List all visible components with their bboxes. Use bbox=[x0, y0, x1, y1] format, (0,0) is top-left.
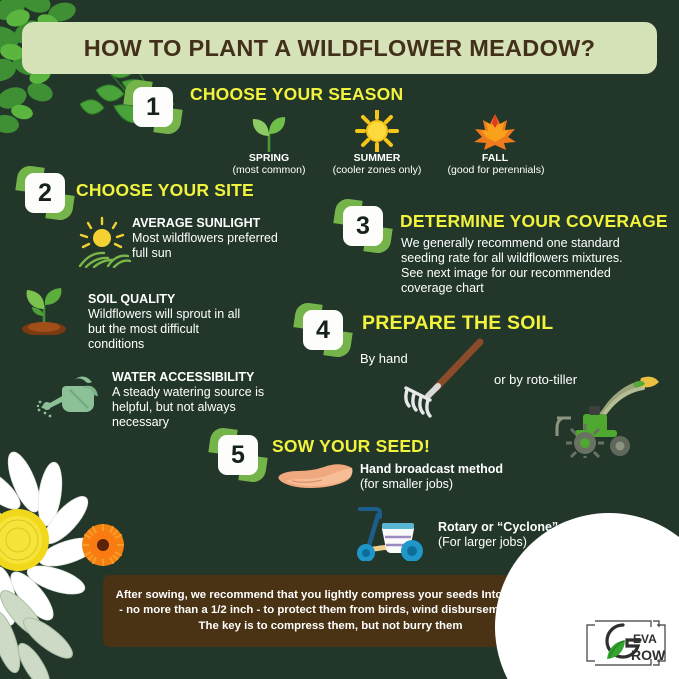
infographic-poster: HOW TO PLANT A WILDFLOWER MEADOW? 1 CHOO… bbox=[0, 0, 679, 679]
site-sunlight-body: Most wildflowers preferred full sun bbox=[132, 231, 317, 261]
step-2-heading: CHOOSE YOUR SITE bbox=[76, 180, 254, 201]
poster-title-bar: HOW TO PLANT A WILDFLOWER MEADOW? bbox=[22, 22, 657, 74]
maple-leaf-icon bbox=[473, 112, 517, 152]
sun-icon bbox=[355, 110, 399, 152]
logo-text-eva: EVA bbox=[633, 632, 657, 646]
step-5-badge: 5 bbox=[215, 432, 261, 478]
logo-text-row: ROW bbox=[631, 647, 666, 663]
site-sunlight-title: AVERAGE SUNLIGHT bbox=[132, 216, 260, 231]
site-water-title: WATER ACCESSIBILITY bbox=[112, 370, 254, 385]
seedling-icon bbox=[248, 112, 290, 152]
step-3-heading: DETERMINE YOUR COVERAGE bbox=[400, 211, 668, 232]
broadcast-seeder-icon bbox=[350, 495, 442, 561]
step-5-heading: SOW YOUR SEED! bbox=[272, 436, 430, 457]
step-number: 2 bbox=[25, 173, 65, 213]
sun-over-field-icon bbox=[72, 216, 132, 268]
logo-eva-grow: EVA ROW bbox=[583, 615, 669, 671]
marigold-flower-icon bbox=[80, 522, 126, 568]
season-fall-note: (good for perennials) bbox=[436, 164, 556, 177]
roto-tiller-icon bbox=[545, 368, 663, 458]
step-2-badge: 2 bbox=[22, 170, 68, 216]
site-soil-body: Wildflowers will sprout in all but the m… bbox=[88, 307, 278, 352]
step-3-badge: 3 bbox=[340, 203, 386, 249]
step-number: 3 bbox=[343, 206, 383, 246]
sprout-in-soil-icon bbox=[16, 283, 72, 335]
step-3-body: We generally recommend one standard seed… bbox=[401, 236, 679, 296]
footer-note-box: After sowing, we recommend that you ligh… bbox=[103, 575, 558, 647]
season-summer-note: (cooler zones only) bbox=[322, 164, 432, 177]
footer-line-3: The key is to compress them, but not bur… bbox=[199, 619, 463, 635]
footer-line-2: - no more than a 1/2 inch - to protect t… bbox=[119, 603, 542, 619]
step-number: 5 bbox=[218, 435, 258, 475]
step-1-heading: CHOOSE YOUR SEASON bbox=[190, 84, 403, 105]
rake-icon bbox=[396, 338, 488, 422]
step-4-heading: PREPARE THE SOIL bbox=[362, 312, 553, 335]
sow-seeder-note: (For larger jobs) bbox=[438, 535, 527, 550]
step-number: 1 bbox=[133, 87, 173, 127]
site-water-body: A steady watering source is helpful, but… bbox=[112, 385, 302, 430]
step-4-badge: 4 bbox=[300, 307, 346, 353]
season-spring-note: (most common) bbox=[216, 164, 322, 177]
step-number: 4 bbox=[303, 310, 343, 350]
open-hand-icon bbox=[270, 462, 356, 492]
sow-hand-note: (for smaller jobs) bbox=[360, 477, 453, 492]
site-soil-title: SOIL QUALITY bbox=[88, 292, 175, 307]
page-title: HOW TO PLANT A WILDFLOWER MEADOW? bbox=[84, 35, 596, 62]
watering-can-icon bbox=[36, 370, 102, 418]
step-1-badge: 1 bbox=[130, 84, 176, 130]
sow-hand-title: Hand broadcast method bbox=[360, 462, 503, 477]
footer-line-1: After sowing, we recommend that you ligh… bbox=[116, 588, 546, 604]
